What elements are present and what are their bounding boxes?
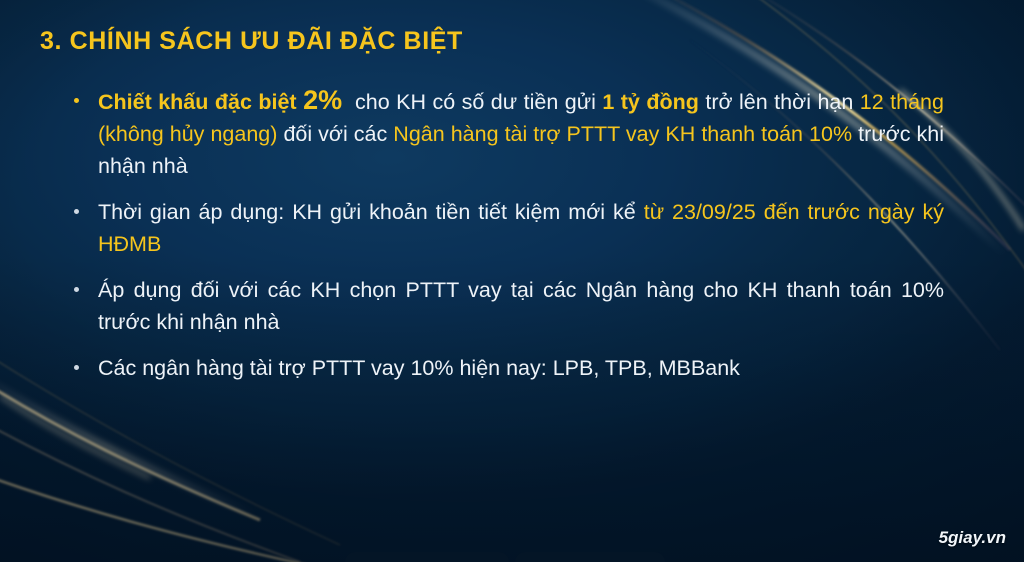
segment-white: Các ngân hàng tài trợ PTTT vay 10% hiện …	[98, 356, 740, 380]
segment-percent: 2%	[303, 85, 342, 115]
segment-white: cho KH có số dư tiền gửi	[355, 90, 596, 114]
bullet-dot-icon	[74, 365, 79, 370]
segment-gold-banks: Ngân hàng tài trợ PTTT vay KH	[393, 122, 695, 146]
bullet-text-discount: Chiết khấu đặc biệt 2% cho KH có số dư t…	[98, 84, 944, 182]
bullet-text-time-range: Thời gian áp dụng: KH gửi khoản tiền tiế…	[98, 196, 944, 260]
list-item: Chiết khấu đặc biệt 2% cho KH có số dư t…	[68, 84, 944, 182]
segment-gold-bold: Chiết khấu đặc biệt	[98, 90, 297, 114]
watermark: 5giay.vn	[939, 528, 1006, 548]
page-title: 3. CHÍNH SÁCH ƯU ĐÃI ĐẶC BIỆT	[40, 27, 463, 56]
list-item: Các ngân hàng tài trợ PTTT vay 10% hiện …	[68, 352, 944, 384]
bottom-edge-shape	[345, 552, 509, 562]
segment-white: trở lên thời hạn	[705, 90, 853, 114]
bullet-list: Chiết khấu đặc biệt 2% cho KH có số dư t…	[68, 84, 944, 398]
list-item: Thời gian áp dụng: KH gửi khoản tiền tiế…	[68, 196, 944, 260]
bullet-dot-icon	[74, 287, 79, 292]
bullet-text-bank-list: Các ngân hàng tài trợ PTTT vay 10% hiện …	[98, 352, 944, 384]
segment-white: Áp dụng đối với các KH chọn PTTT vay tại…	[98, 278, 841, 302]
segment-white: Thời gian áp dụng: KH gửi khoản tiền tiế…	[98, 200, 636, 224]
bottom-edge-shape	[515, 552, 665, 562]
bullet-dot-icon	[74, 209, 79, 214]
bullet-dot-icon	[74, 98, 79, 103]
bullet-text-applies-to: Áp dụng đối với các KH chọn PTTT vay tại…	[98, 274, 944, 338]
segment-white: đối với các	[283, 122, 387, 146]
presentation-slide: 3. CHÍNH SÁCH ƯU ĐÃI ĐẶC BIỆT Chiết khấu…	[0, 0, 1024, 562]
segment-gold-payment: thanh toán 10%	[701, 122, 852, 146]
list-item: Áp dụng đối với các KH chọn PTTT vay tại…	[68, 274, 944, 338]
segment-gold-bold-amount: 1 tỷ đồng	[602, 90, 699, 114]
segment-gold-date: từ 23/09/25 đến	[644, 200, 800, 224]
